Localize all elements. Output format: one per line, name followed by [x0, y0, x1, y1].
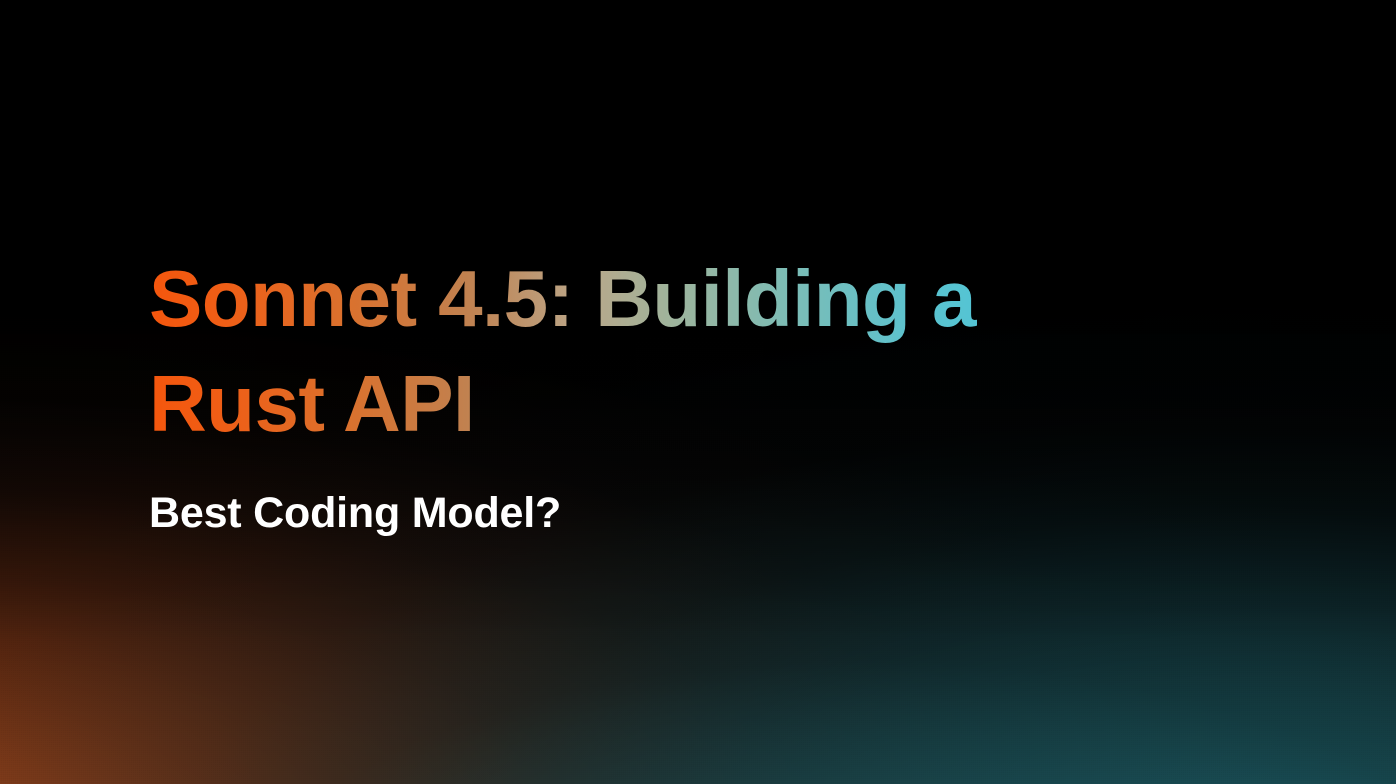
- page-subtitle: Best Coding Model?: [149, 456, 1249, 539]
- text-block: Sonnet 4.5: Building a Rust API Best Cod…: [149, 246, 1249, 539]
- page-title-line-1: Sonnet 4.5: Building a: [149, 246, 1080, 351]
- page-title: Sonnet 4.5: Building a Rust API: [149, 246, 1080, 456]
- title-card: Sonnet 4.5: Building a Rust API Best Cod…: [0, 0, 1396, 784]
- page-title-line-2: Rust API: [149, 351, 1080, 456]
